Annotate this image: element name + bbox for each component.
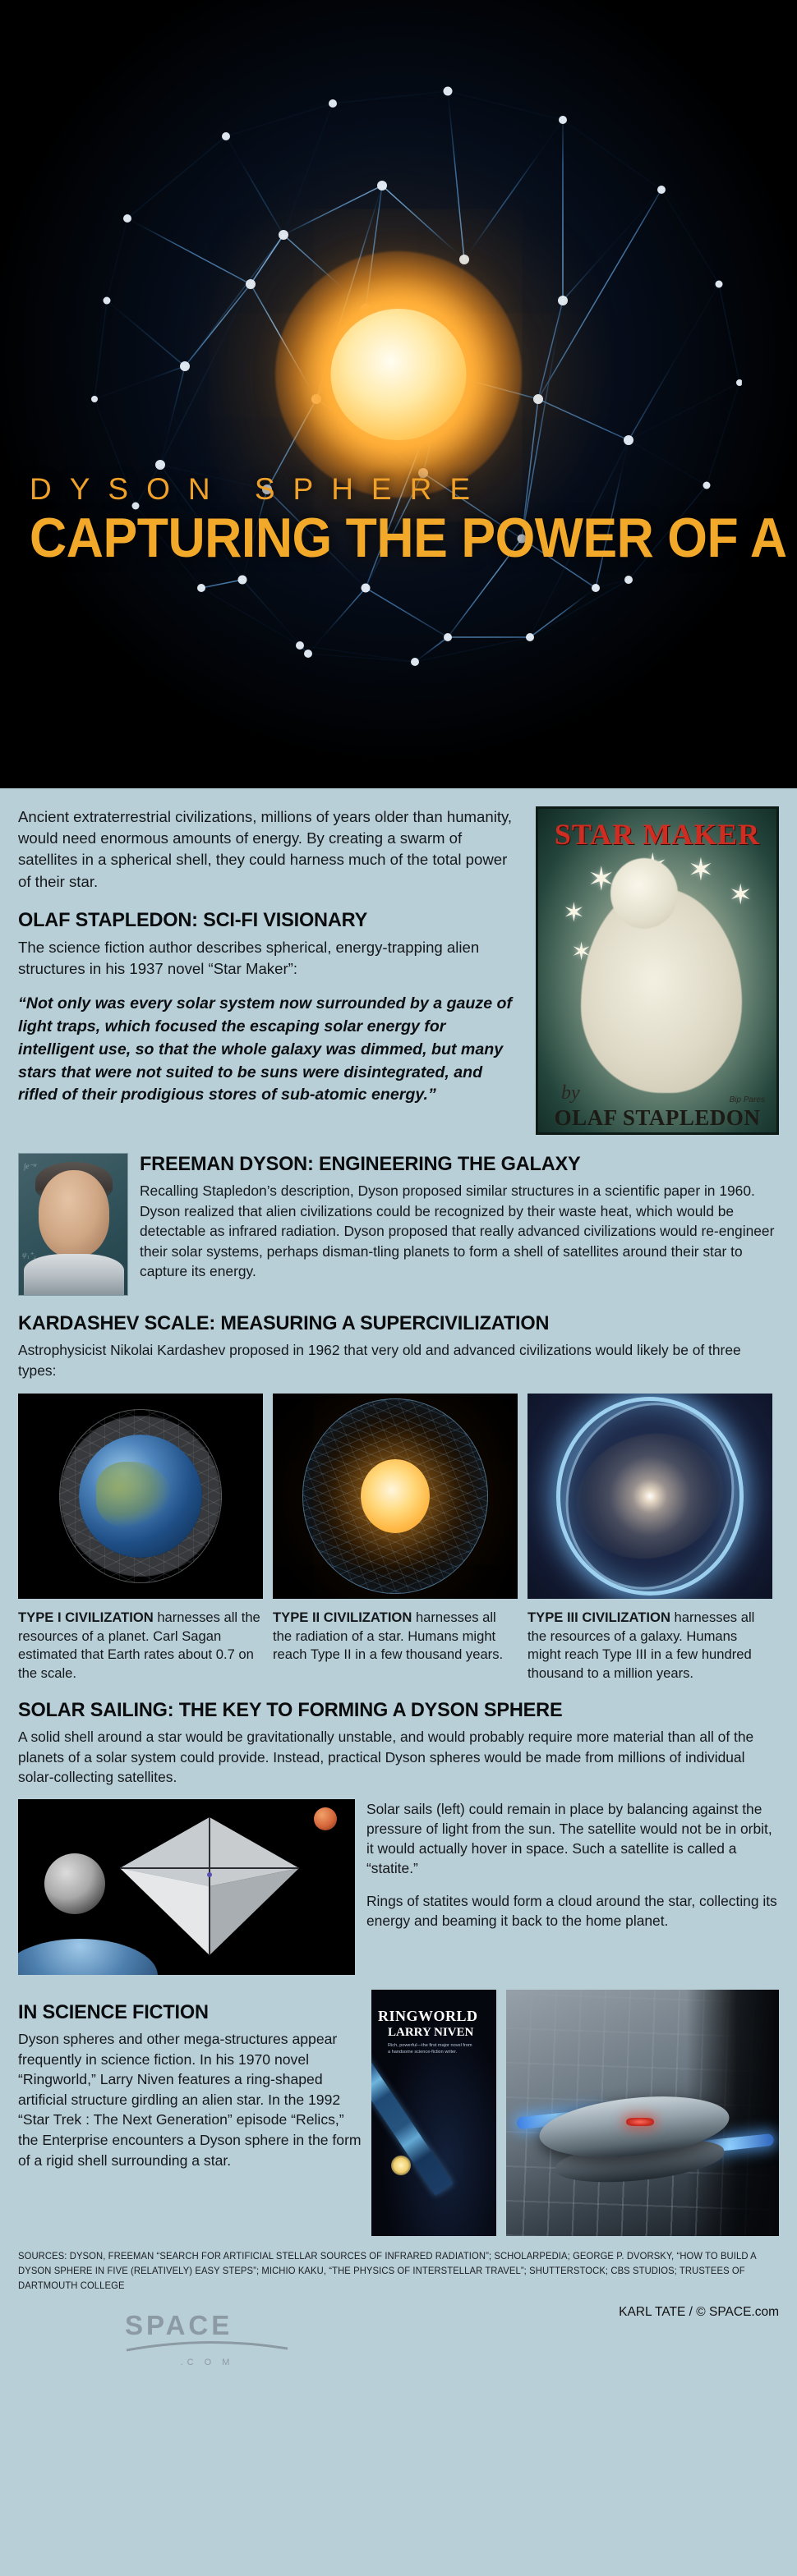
solar-sail-image [18,1799,355,1975]
hero-kicker: DYSON SPHERE [30,472,797,507]
energy-ring-icon [556,1397,744,1596]
illustrator-signature: Bip Pares [730,1095,765,1104]
type-2-caption: TYPE II CIVILIZATION harnesses all the r… [273,1609,518,1683]
book-title: STAR MAKER [538,817,776,852]
ringworld-blurb: Rich, powerful—the first major novel fro… [388,2042,474,2056]
hero-text-block: DYSON SPHERE CAPTURING THE POWER OF A ST… [0,472,797,565]
hero-banner: DYSON SPHERE CAPTURING THE POWER OF A ST… [0,0,797,788]
space-com-logo[interactable]: SPACE .C O M [125,2312,289,2354]
type-2-label: TYPE II CIVILIZATION [273,1609,412,1625]
kardashev-paragraph: Astrophysicist Nikolai Kardashev propose… [18,1340,779,1380]
solar-sail-icon [120,1817,299,1955]
freeman-dyson-text: FREEMAN DYSON: ENGINEERING THE GALAXY Re… [140,1153,779,1285]
chalk-scribble: ψ₁⁺₂ [22,1251,36,1260]
star-icon: ✶ [563,899,585,925]
star-icon: ✶ [729,881,753,909]
stapledon-quote: “Not only was every solar system now sur… [18,993,521,1107]
kardashev-images-row [18,1394,779,1599]
type-1-caption: TYPE I CIVILIZATION harnesses all the re… [18,1609,263,1683]
intro-paragraph: Ancient extraterrestrial civilizations, … [18,806,521,893]
solar-sailing-paragraph: A solid shell around a star would be gra… [18,1727,779,1788]
hero-title: CAPTURING THE POWER OF A STAR [30,512,735,565]
type-1-image [18,1394,263,1599]
dyson-heading: FREEMAN DYSON: ENGINEERING THE GALAXY [140,1153,753,1176]
type-3-label: TYPE III CIVILIZATION [527,1609,670,1625]
star-maker-book-cover: ✶ ✶ ✶ ✶ ✶ ✶ ✶ STAR MAKER by Bip Pares OL… [536,806,779,1135]
book-author: OLAF STAPLEDON [538,1105,776,1131]
ringworld-author: LARRY NIVEN [388,2026,473,2040]
book-by-label: by [561,1082,580,1104]
logo-domain: .C O M [125,2358,289,2367]
science-fiction-row: IN SCIENCE FICTION Dyson spheres and oth… [18,1990,779,2236]
star-icon [361,1459,430,1533]
star-icon: ✶ [688,855,714,886]
kardashev-heading: KARDASHEV SCALE: MEASURING A SUPERCIVILI… [18,1312,749,1335]
stapledon-heading: OLAF STAPLEDON: SCI-FI VISIONARY [18,909,501,932]
logo-wordmark: SPACE [125,2312,289,2339]
earth-globe-icon [79,1435,202,1558]
solar-sailing-heading: SOLAR SAILING: THE KEY TO FORMING A DYSO… [18,1699,749,1722]
intro-row: Ancient extraterrestrial civilizations, … [18,788,779,1135]
portrait-shirt [24,1254,124,1295]
credit-row: SPACE .C O M KARL TATE / © SPACE.com [18,2298,779,2377]
statite-paragraph: Solar sails (left) could remain in place… [366,1799,779,1878]
intro-left-column: Ancient extraterrestrial civilizations, … [18,806,521,1135]
solar-sail-row: Solar sails (left) could remain in place… [18,1799,779,1975]
ringworld-title: RINGWORLD [378,2008,478,2025]
science-fiction-paragraph: Dyson spheres and other mega-structures … [18,2029,362,2170]
type-1-label: TYPE I CIVILIZATION [18,1609,154,1625]
ringworld-book-cover: RINGWORLD LARRY NIVEN Rich, powerful—the… [371,1990,496,2236]
type-2-image [273,1394,518,1599]
sources-text: SOURCES: DYSON, FREEMAN “SEARCH FOR ARTI… [18,2249,756,2294]
type-3-caption: TYPE III CIVILIZATION harnesses all the … [527,1609,772,1683]
solar-sail-text: Solar sails (left) could remain in place… [366,1799,779,1944]
stapledon-paragraph: The science fiction author describes sph… [18,937,521,980]
content-body: Ancient extraterrestrial civilizations, … [0,788,797,2236]
rings-paragraph: Rings of statites would form a cloud aro… [366,1891,779,1931]
portrait-face [39,1170,109,1257]
kardashev-captions-row: TYPE I CIVILIZATION harnesses all the re… [18,1609,779,1683]
type-3-image [527,1394,772,1599]
freeman-dyson-photo: ∫e⁻ˡᵈ γμ ψ₁⁺₂ [18,1153,128,1296]
infographic-page: DYSON SPHERE CAPTURING THE POWER OF A ST… [0,0,797,2576]
deflector-light [626,2118,654,2126]
logo-swoosh-icon [125,2339,289,2352]
freeman-dyson-row: ∫e⁻ˡᵈ γμ ψ₁⁺₂ FREEMAN DYSON: ENGINEERING… [18,1153,779,1296]
star-icon [391,2156,411,2175]
dyson-paragraph: Recalling Stapledon’s description, Dyson… [140,1181,779,1282]
dyson-sphere-illustration [37,13,760,736]
mars-icon [314,1807,337,1830]
chalk-scribble: ∫e⁻ˡᵈ [24,1162,36,1171]
science-fiction-heading: IN SCIENCE FICTION [18,2001,348,2024]
moon-icon [44,1853,105,1914]
author-credit: KARL TATE / © SPACE.com [619,2305,779,2320]
star-trek-relics-image [506,1990,779,2236]
science-fiction-text: IN SCIENCE FICTION Dyson spheres and oth… [18,1990,362,2170]
star-core [331,309,467,440]
footer: SOURCES: DYSON, FREEMAN “SEARCH FOR ARTI… [0,2236,797,2377]
